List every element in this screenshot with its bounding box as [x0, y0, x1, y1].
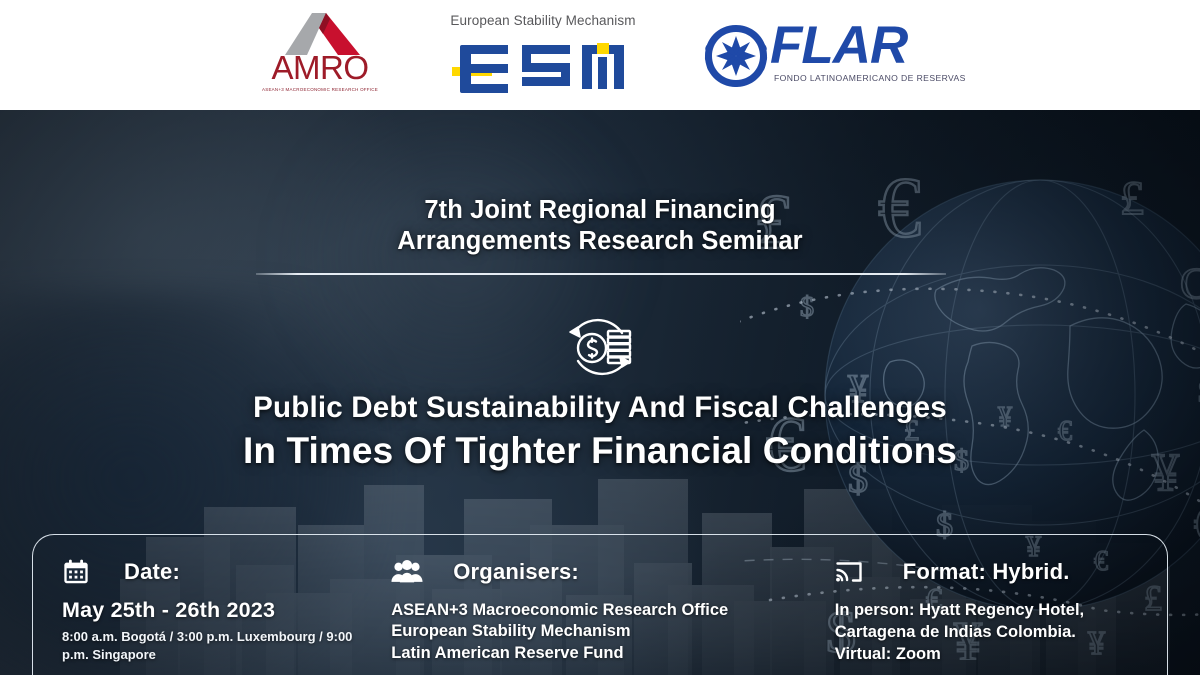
- money-circulation-icon: [556, 306, 644, 388]
- organiser-item: European Stability Mechanism: [391, 621, 827, 642]
- format-label: Format: Hybrid.: [903, 559, 1070, 585]
- poster-headline: Public Debt Sustainability And Fiscal Ch…: [80, 390, 1120, 475]
- flar-logo: FLAR FONDO LATINOAMERICANO DE RESERVAS: [700, 15, 946, 95]
- amro-wordmark: AMRO: [254, 51, 386, 84]
- flar-wordmark: FLAR: [770, 19, 907, 72]
- format-item: Cartagena de Indias Colombia.: [835, 622, 1152, 644]
- organiser-logo-bar: AMRO ASEAN+3 MACROECONOMIC RESEARCH OFFI…: [0, 0, 1200, 110]
- date-value: May 25th - 26th 2023: [62, 598, 381, 623]
- flar-star-wreath-logo-icon: [700, 23, 772, 89]
- format-details: In person: Hyatt Regency Hotel, Cartagen…: [835, 600, 1152, 665]
- seminar-title-line-2: Arrangements Research Seminar: [300, 226, 900, 257]
- date-timezones: 8:00 a.m. Bogotá / 3:00 p.m. Luxembourg …: [62, 628, 362, 665]
- info-column-date: Date: May 25th - 26th 2023 8:00 a.m. Bog…: [48, 554, 381, 675]
- poster-content: 7th Joint Regional Financing Arrangement…: [0, 110, 1200, 675]
- organiser-item: Latin American Reserve Fund: [391, 643, 827, 664]
- calendar-icon: [62, 555, 102, 589]
- date-label: Date:: [124, 559, 180, 585]
- format-header: Format: Hybrid.: [835, 554, 1152, 590]
- event-poster: AMRO ASEAN+3 MACROECONOMIC RESEARCH OFFI…: [0, 0, 1200, 675]
- info-column-organisers: Organisers: ASEAN+3 Macroeconomic Resear…: [381, 554, 827, 675]
- info-panel: Date: May 25th - 26th 2023 8:00 a.m. Bog…: [32, 534, 1168, 675]
- organisers-header: Organisers:: [391, 554, 827, 590]
- organisers-label: Organisers:: [453, 559, 579, 585]
- flar-tagline: FONDO LATINOAMERICANO DE RESERVAS: [774, 73, 946, 83]
- amro-tagline: ASEAN+3 MACROECONOMIC RESEARCH OFFICE: [253, 87, 388, 92]
- title-divider: [256, 273, 946, 275]
- people-group-icon: [391, 555, 431, 589]
- seminar-title-line-1: 7th Joint Regional Financing: [300, 195, 900, 226]
- headline-line-2: In Times Of Tighter Financial Conditions: [80, 427, 1120, 475]
- organisers-list: ASEAN+3 Macroeconomic Research Office Eu…: [391, 600, 827, 664]
- format-item: In person: Hyatt Regency Hotel,: [835, 600, 1152, 622]
- esm-tagline: European Stability Mechanism: [448, 13, 638, 28]
- organiser-item: ASEAN+3 Macroeconomic Research Office: [391, 600, 827, 621]
- esm-logo: European Stability Mechanism: [448, 13, 638, 97]
- date-header: Date:: [62, 554, 381, 590]
- amro-logo: AMRO ASEAN+3 MACROECONOMIC RESEARCH OFFI…: [254, 11, 386, 99]
- format-item: Virtual: Zoom: [835, 644, 1152, 666]
- screen-cast-icon: [835, 555, 875, 589]
- headline-line-1: Public Debt Sustainability And Fiscal Ch…: [80, 390, 1120, 427]
- info-column-format: Format: Hybrid. In person: Hyatt Regency…: [827, 554, 1152, 675]
- seminar-title: 7th Joint Regional Financing Arrangement…: [300, 195, 900, 257]
- esm-wordmark-logo-icon: [452, 39, 638, 95]
